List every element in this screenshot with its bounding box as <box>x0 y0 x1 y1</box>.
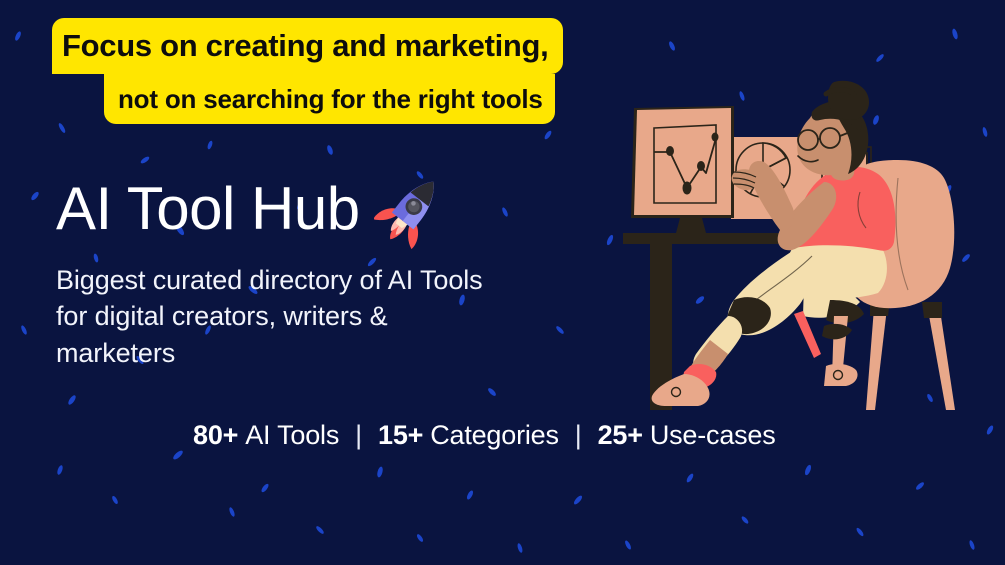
slide-canvas: Focus on creating and marketing, not on … <box>0 0 1005 565</box>
rocket-icon <box>374 168 450 250</box>
stat-number-tools: 80+ <box>193 420 238 451</box>
subtitle-line-3: marketers <box>56 335 483 371</box>
subtitle-line-2: for digital creators, writers & <box>56 298 483 334</box>
illustration-woman-at-desk <box>598 78 998 410</box>
stat-label-categories: Categories <box>430 420 559 451</box>
banner-line-1: Focus on creating and marketing, <box>52 18 563 74</box>
page-title-text: AI Tool Hub <box>56 179 360 239</box>
stat-number-categories: 15+ <box>378 420 423 451</box>
stat-number-usecases: 25+ <box>598 420 643 451</box>
left-monitor <box>631 106 734 233</box>
page-title: AI Tool Hub <box>56 168 450 250</box>
subtitle: Biggest curated directory of AI Tools fo… <box>56 262 483 371</box>
stats-bar: 80+ AI Tools | 15+ Categories | 25+ Use-… <box>193 420 776 451</box>
subtitle-line-1: Biggest curated directory of AI Tools <box>56 262 483 298</box>
stat-label-usecases: Use-cases <box>650 420 776 451</box>
stat-separator-1: | <box>355 420 362 451</box>
stat-label-tools: AI Tools <box>245 420 339 451</box>
stat-separator-2: | <box>575 420 582 451</box>
banner-line-2: not on searching for the right tools <box>104 74 555 124</box>
